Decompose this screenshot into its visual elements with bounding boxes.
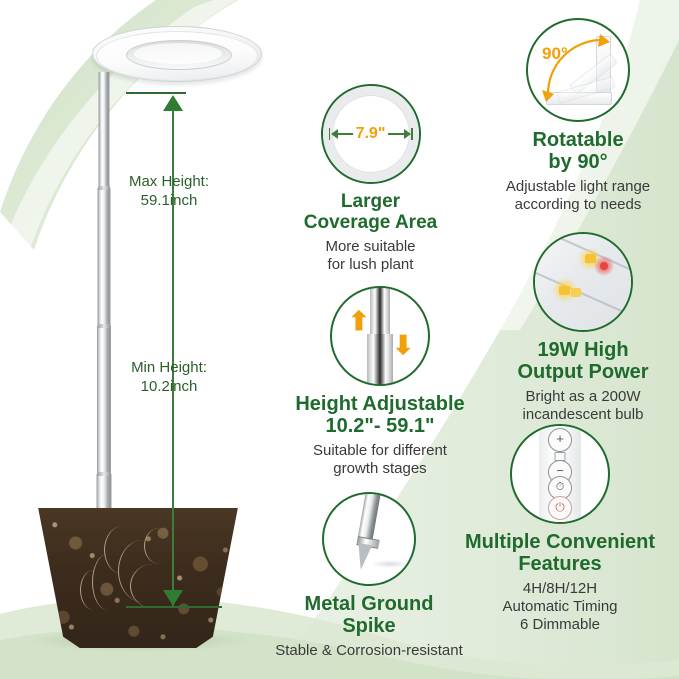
led-red (600, 262, 608, 270)
dimension-end-right (411, 128, 413, 140)
root-strand (80, 570, 107, 610)
coverage-diameter-value: 7.9" (353, 125, 389, 143)
rotation-angle-icon: 90° (526, 18, 630, 122)
soil-pot-cross-section (34, 508, 242, 648)
pole-lower-segment (367, 334, 393, 384)
max-height-arrow-down (163, 590, 183, 606)
led-closeup-icon (533, 232, 633, 332)
product-infographic: Max Height: 59.1inch Min Height: 10.2inc… (0, 0, 679, 679)
max-height-arrow-up (163, 95, 183, 111)
pole-joint-2 (98, 324, 111, 328)
metal-spike-icon (322, 492, 416, 586)
feature-convenient-title: Multiple Convenient Features (442, 531, 678, 576)
pole-segment-3 (97, 326, 111, 476)
feature-coverage-area: 7.9" Larger Coverage Area More suitable … (288, 84, 453, 274)
control-panel-icon: + − ⏱ ⏻ (510, 424, 610, 524)
dimension-arrow-right (404, 129, 411, 139)
max-height-label: Max Height: 59.1inch (104, 172, 234, 210)
product-illustration: Max Height: 59.1inch Min Height: 10.2inc… (0, 0, 290, 679)
feature-power-title: 19W High Output Power (488, 339, 678, 384)
telescoping-pole (97, 72, 111, 572)
feature-rotatable-title: Rotatable by 90° (478, 129, 678, 174)
root-strand (144, 528, 175, 564)
led-warm-3 (571, 288, 581, 297)
led-warm-2 (559, 286, 570, 295)
feature-power-subtitle: Bright as a 200W incandescent bulb (488, 388, 678, 425)
rotation-arc-arrow (528, 20, 628, 120)
feature-coverage-title: Larger Coverage Area (288, 191, 453, 234)
ring-lamp-head (92, 26, 260, 84)
feature-output-power: 19W High Output Power Bright as a 200W i… (488, 232, 678, 424)
feature-spike-subtitle: Stable & Corrosion-resistant (256, 642, 482, 660)
spike-point (354, 543, 372, 571)
feature-convenient: + − ⏱ ⏻ Multiple Convenient Features 4H/… (442, 424, 678, 635)
feature-convenient-subtitle: 4H/8H/12H Automatic Timing 6 Dimmable (442, 580, 678, 635)
ring-light-diameter-icon: 7.9" (321, 84, 421, 184)
power-button[interactable]: ⏻ (548, 496, 572, 520)
rotation-degree-value: 90° (542, 44, 568, 64)
min-height-label: Min Height: 10.2inch (104, 358, 234, 396)
brightness-up-button[interactable]: + (548, 428, 572, 452)
spike-shaft (358, 492, 382, 541)
arrow-down-icon: ⬇ (392, 332, 414, 358)
spike-shadow (370, 560, 410, 568)
max-height-tick (126, 92, 186, 94)
feature-coverage-subtitle: More suitable for lush plant (288, 238, 453, 275)
pole-joint-3 (97, 472, 111, 476)
lamp-ring-inner-face (134, 43, 222, 64)
dimension-arrow-left (331, 129, 338, 139)
arrow-up-icon: ⬆ (348, 308, 370, 334)
pole-upper-segment (370, 288, 390, 334)
max-height-base-tick (126, 606, 222, 608)
telescoping-pole-icon: ⬆ ⬇ (330, 286, 430, 386)
feature-rotatable-subtitle: Adjustable light range according to need… (478, 178, 678, 215)
feature-rotatable: 90° Rotatable by 90° Adjustable light ra… (478, 18, 678, 214)
